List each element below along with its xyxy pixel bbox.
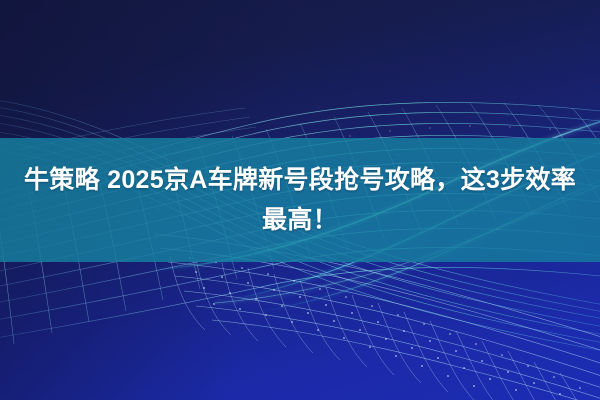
promo-banner: 牛策略 2025京A车牌新号段抢号攻略，这3步效率 最高！ [0, 0, 600, 400]
banner-headline: 牛策略 2025京A车牌新号段抢号攻略，这3步效率 最高！ [0, 138, 600, 262]
headline-line-1: 牛策略 2025京A车牌新号段抢号攻略，这3步效率 [24, 160, 576, 200]
headline-line-2: 最高！ [262, 200, 338, 240]
